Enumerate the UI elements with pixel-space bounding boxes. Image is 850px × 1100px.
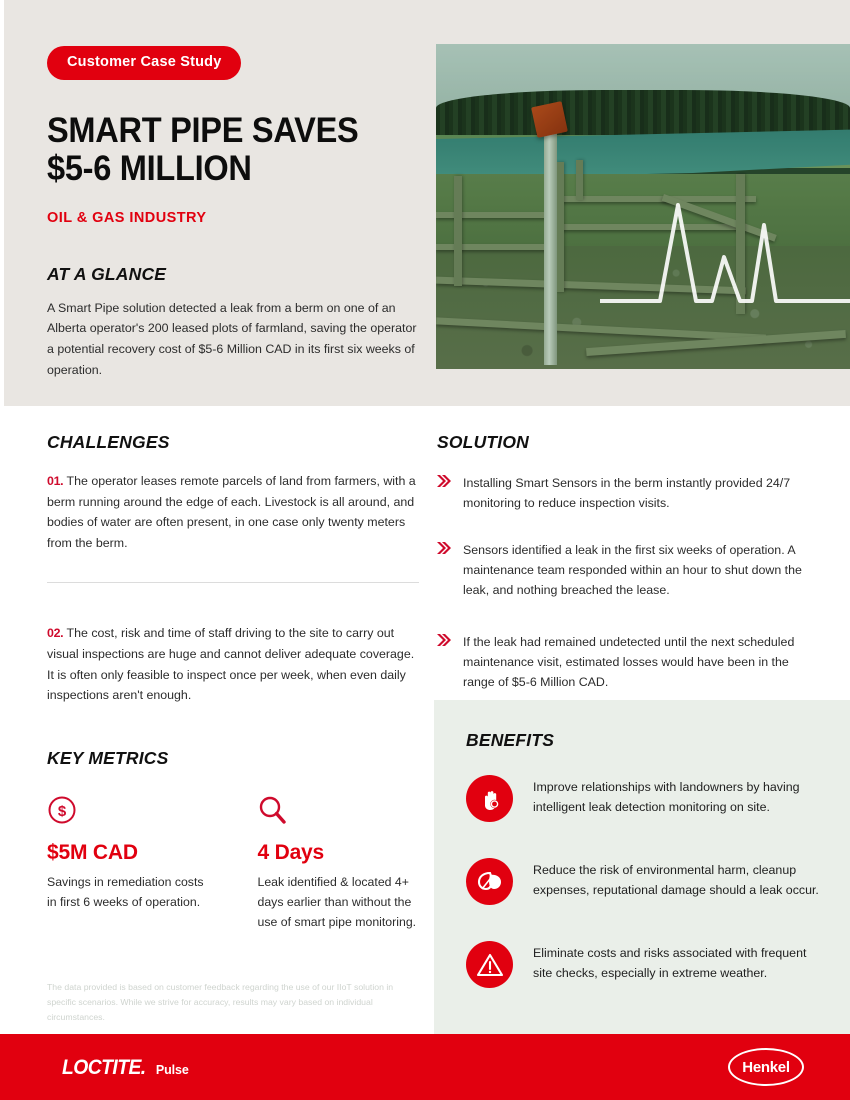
loctite-pulse-logo: LOCTITE. Pulse bbox=[62, 1056, 189, 1080]
benefit-item: Reduce the risk of environmental harm, c… bbox=[466, 858, 820, 905]
hero-band: Customer Case Study SMART PIPE SAVES $5-… bbox=[0, 0, 850, 406]
footer-bar: LOCTITE. Pulse Henkel bbox=[0, 1034, 850, 1100]
disclaimer-text: The data provided is based on customer f… bbox=[47, 980, 415, 1025]
metric-value: $5M CAD bbox=[47, 841, 212, 865]
leaf-icon bbox=[466, 858, 513, 905]
challenge-item: 01. The operator leases remote parcels o… bbox=[47, 471, 419, 553]
metric-card: $ $5M CAD Savings in remediation costs i… bbox=[47, 795, 212, 933]
hero-photo bbox=[436, 44, 850, 369]
challenge-number: 01. bbox=[47, 474, 63, 488]
industry-label: OIL & GAS INDUSTRY bbox=[47, 210, 427, 226]
solution-item: If the leak had remained undetected unti… bbox=[437, 632, 815, 693]
page-title: SMART PIPE SAVES $5-6 MILLION bbox=[47, 112, 400, 188]
solution-item: Installing Smart Sensors in the berm ins… bbox=[437, 473, 815, 514]
solution-text: Sensors identified a leak in the first s… bbox=[463, 540, 815, 601]
henkel-logo: Henkel bbox=[728, 1048, 804, 1086]
key-metrics-heading: KEY METRICS bbox=[47, 748, 422, 769]
metric-description: Savings in remediation costs in first 6 … bbox=[47, 873, 212, 913]
double-chevron-icon bbox=[437, 633, 452, 693]
svg-text:$: $ bbox=[58, 803, 67, 820]
loctite-wordmark: LOCTITE. bbox=[62, 1056, 146, 1080]
pulse-wordmark: Pulse bbox=[156, 1063, 189, 1077]
hero-text-column: Customer Case Study SMART PIPE SAVES $5-… bbox=[47, 46, 427, 380]
challenge-text: The operator leases remote parcels of la… bbox=[47, 474, 416, 550]
warning-triangle-icon bbox=[466, 941, 513, 988]
benefit-text: Improve relationships with landowners by… bbox=[533, 775, 820, 817]
challenges-column: CHALLENGES 01. The operator leases remot… bbox=[47, 432, 419, 706]
solution-text: If the leak had remained undetected unti… bbox=[463, 632, 815, 693]
solution-item: Sensors identified a leak in the first s… bbox=[437, 540, 815, 601]
solution-heading: SOLUTION bbox=[437, 432, 815, 453]
benefit-item: Eliminate costs and risks associated wit… bbox=[466, 941, 820, 988]
challenge-number: 02. bbox=[47, 626, 63, 640]
challenge-text: The cost, risk and time of staff driving… bbox=[47, 626, 414, 702]
at-a-glance-heading: AT A GLANCE bbox=[47, 264, 427, 285]
benefits-panel: BENEFITS Improve relationships with land… bbox=[434, 700, 850, 1035]
benefit-text: Reduce the risk of environmental harm, c… bbox=[533, 858, 820, 900]
at-a-glance-body: A Smart Pipe solution detected a leak fr… bbox=[47, 298, 422, 380]
solution-text: Installing Smart Sensors in the berm ins… bbox=[463, 473, 815, 514]
case-study-badge: Customer Case Study bbox=[47, 46, 241, 80]
challenge-item: 02. The cost, risk and time of staff dri… bbox=[47, 623, 419, 705]
solution-column: SOLUTION Installing Smart Sensors in the… bbox=[437, 432, 815, 693]
magnifier-icon bbox=[258, 795, 423, 831]
key-metrics-section: KEY METRICS $ $5M CAD Savings in remedia… bbox=[47, 748, 422, 933]
hand-detection-icon bbox=[466, 775, 513, 822]
case-study-page: Customer Case Study SMART PIPE SAVES $5-… bbox=[0, 0, 850, 1100]
key-metrics-grid: $ $5M CAD Savings in remediation costs i… bbox=[47, 795, 422, 933]
henkel-wordmark: Henkel bbox=[742, 1059, 789, 1076]
page-left-edge bbox=[0, 0, 4, 1034]
benefit-text: Eliminate costs and risks associated wit… bbox=[533, 941, 820, 983]
double-chevron-icon bbox=[437, 541, 452, 601]
benefits-heading: BENEFITS bbox=[466, 730, 820, 751]
metric-description: Leak identified & located 4+ days earlie… bbox=[258, 873, 423, 933]
challenges-heading: CHALLENGES bbox=[47, 432, 419, 453]
dollar-coin-icon: $ bbox=[47, 795, 212, 831]
metric-value: 4 Days bbox=[258, 841, 423, 865]
challenges-divider bbox=[47, 582, 419, 583]
metric-card: 4 Days Leak identified & located 4+ days… bbox=[258, 795, 423, 933]
double-chevron-icon bbox=[437, 474, 452, 514]
benefit-item: Improve relationships with landowners by… bbox=[466, 775, 820, 822]
pulse-waveform-icon bbox=[600, 183, 850, 333]
